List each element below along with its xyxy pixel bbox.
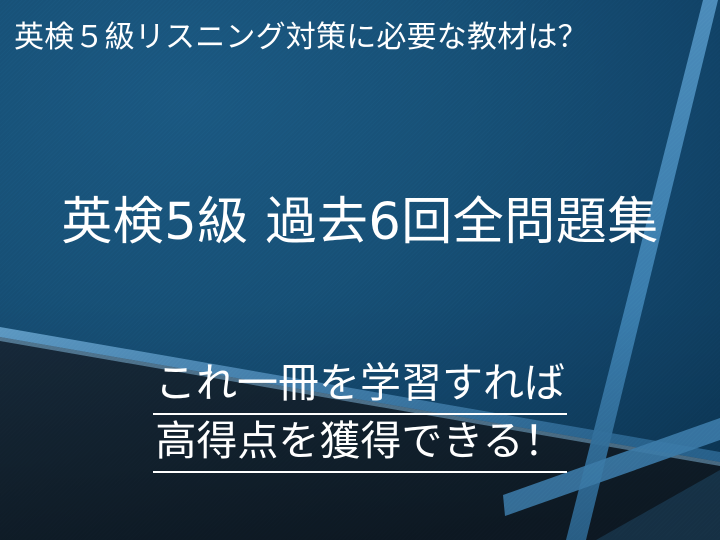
callout-line-2: 高得点を獲得できる！ [0,415,720,473]
slide-canvas: 英検５級リスニング対策に必要な教材は？ 英検5級 過去6回全問題集 これ一冊を学… [0,0,720,540]
slide-title: 英検５級リスニング対策に必要な教材は？ [14,18,714,58]
callout-line-2-text: 高得点を獲得できる！ [153,415,566,473]
slide-heading: 英検5級 過去6回全問題集 [0,190,720,256]
callout-line-1-text: これ一冊を学習すれば [153,357,567,415]
slide-callout: これ一冊を学習すれば 高得点を獲得できる！ [0,357,720,473]
callout-line-1: これ一冊を学習すれば [0,357,720,415]
